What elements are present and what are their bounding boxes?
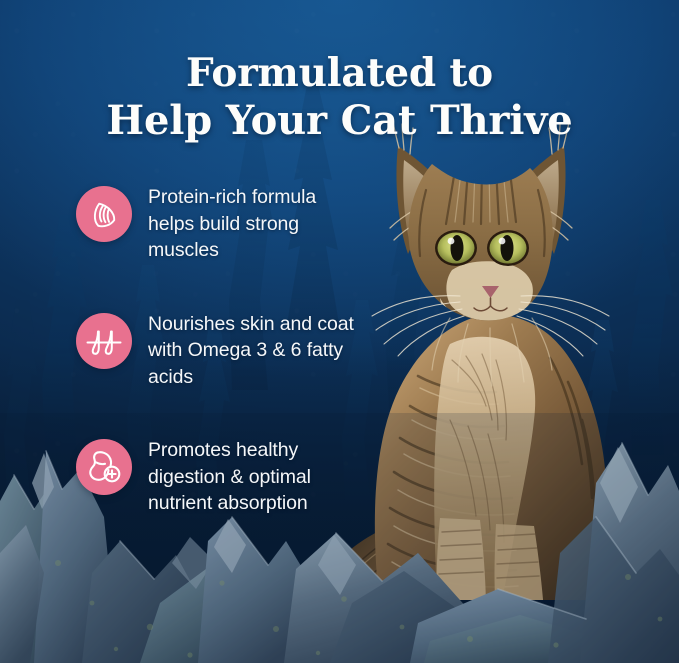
benefit-text-skin-coat: Nourishes skin and coat with Omega 3 & 6… [148, 311, 364, 391]
benefit-text-digestion: Promotes healthy digestion & optimal nut… [148, 437, 364, 517]
benefit-item-skin-coat: Nourishes skin and coat with Omega 3 & 6… [76, 313, 366, 391]
product-benefits-poster: Formulated to Help Your Cat Thrive Prote… [0, 0, 679, 663]
cat-head [372, 122, 609, 386]
benefits-list: Protein-rich formula helps build strong … [76, 186, 366, 517]
benefit-item-digestion: Promotes healthy digestion & optimal nut… [76, 439, 366, 517]
headline-line-1: Formulated to [186, 50, 493, 96]
hair-follicle-icon-badge [76, 313, 132, 369]
muscle-icon-badge [76, 186, 132, 242]
stomach-plus-icon-badge [76, 439, 132, 495]
muscle-icon [87, 197, 121, 231]
benefit-text-protein: Protein-rich formula helps build strong … [148, 184, 364, 264]
stomach-plus-icon [86, 450, 122, 484]
benefit-item-protein: Protein-rich formula helps build strong … [76, 186, 366, 264]
hair-follicle-icon [86, 326, 122, 356]
page-title: Formulated to Help Your Cat Thrive [0, 50, 679, 144]
headline-line-2: Help Your Cat Thrive [0, 97, 679, 144]
